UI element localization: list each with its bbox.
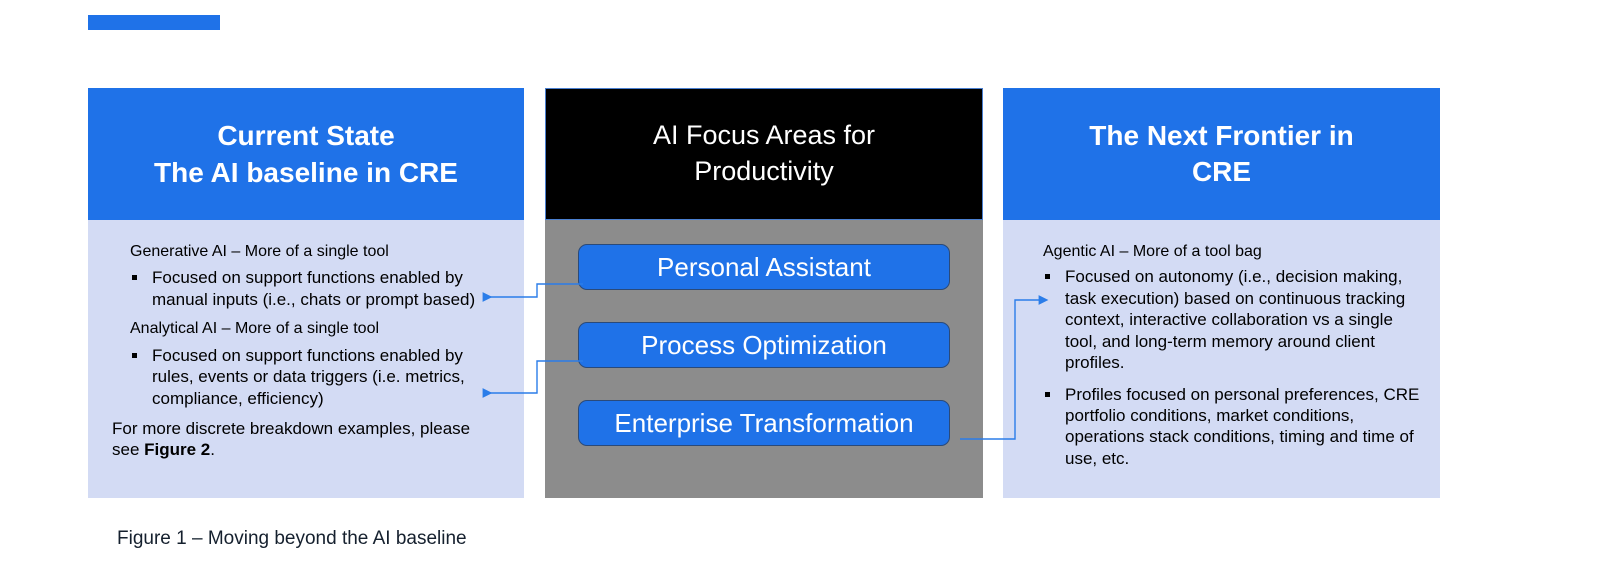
right-panel-title-line1: The Next Frontier in <box>1089 118 1353 154</box>
accent-bar <box>88 15 220 30</box>
right-panel-body: Agentic AI – More of a tool bag Focused … <box>1003 220 1440 498</box>
right-panel-bullets: Focused on autonomy (i.e., decision maki… <box>1043 266 1422 469</box>
left-panel-header: Current State The AI baseline in CRE <box>88 88 524 220</box>
right-panel: The Next Frontier in CRE Agentic AI – Mo… <box>1003 88 1440 498</box>
left-section-1-lead: Generative AI – More of a single tool <box>130 242 502 262</box>
figure-caption: Figure 1 – Moving beyond the AI baseline <box>117 528 467 550</box>
center-panel: AI Focus Areas for Productivity Personal… <box>545 88 983 498</box>
left-section-2-lead: Analytical AI – More of a single tool <box>130 319 502 339</box>
figure-canvas: Current State The AI baseline in CRE Gen… <box>0 0 1600 587</box>
center-panel-title-line2: Productivity <box>694 154 834 190</box>
focus-area-enterprise-transformation[interactable]: Enterprise Transformation <box>578 400 950 446</box>
left-panel-title-line2: The AI baseline in CRE <box>154 154 458 191</box>
right-panel-header: The Next Frontier in CRE <box>1003 88 1440 220</box>
center-panel-body: Personal Assistant Process Optimization … <box>545 220 983 498</box>
left-panel: Current State The AI baseline in CRE Gen… <box>88 88 524 498</box>
left-panel-title-line1: Current State <box>217 117 394 154</box>
right-panel-lead: Agentic AI – More of a tool bag <box>1043 242 1422 262</box>
left-section-1-bullets: Focused on support functions enabled by … <box>130 267 502 310</box>
list-item: Focused on support functions enabled by … <box>130 267 502 310</box>
left-panel-note: For more discrete breakdown examples, pl… <box>112 418 502 461</box>
list-item: Profiles focused on personal preferences… <box>1043 384 1422 470</box>
center-panel-header: AI Focus Areas for Productivity <box>545 88 983 220</box>
right-panel-title-line2: CRE <box>1192 154 1251 190</box>
center-panel-title-line1: AI Focus Areas for <box>653 118 875 154</box>
left-panel-note-bold: Figure 2 <box>144 440 210 459</box>
left-panel-body: Generative AI – More of a single tool Fo… <box>88 220 524 498</box>
left-panel-note-suffix: . <box>210 440 215 459</box>
list-item: Focused on autonomy (i.e., decision maki… <box>1043 266 1422 373</box>
left-section-2-bullets: Focused on support functions enabled by … <box>130 345 502 409</box>
focus-area-process-optimization[interactable]: Process Optimization <box>578 322 950 368</box>
list-item: Focused on support functions enabled by … <box>130 345 502 409</box>
focus-area-personal-assistant[interactable]: Personal Assistant <box>578 244 950 290</box>
